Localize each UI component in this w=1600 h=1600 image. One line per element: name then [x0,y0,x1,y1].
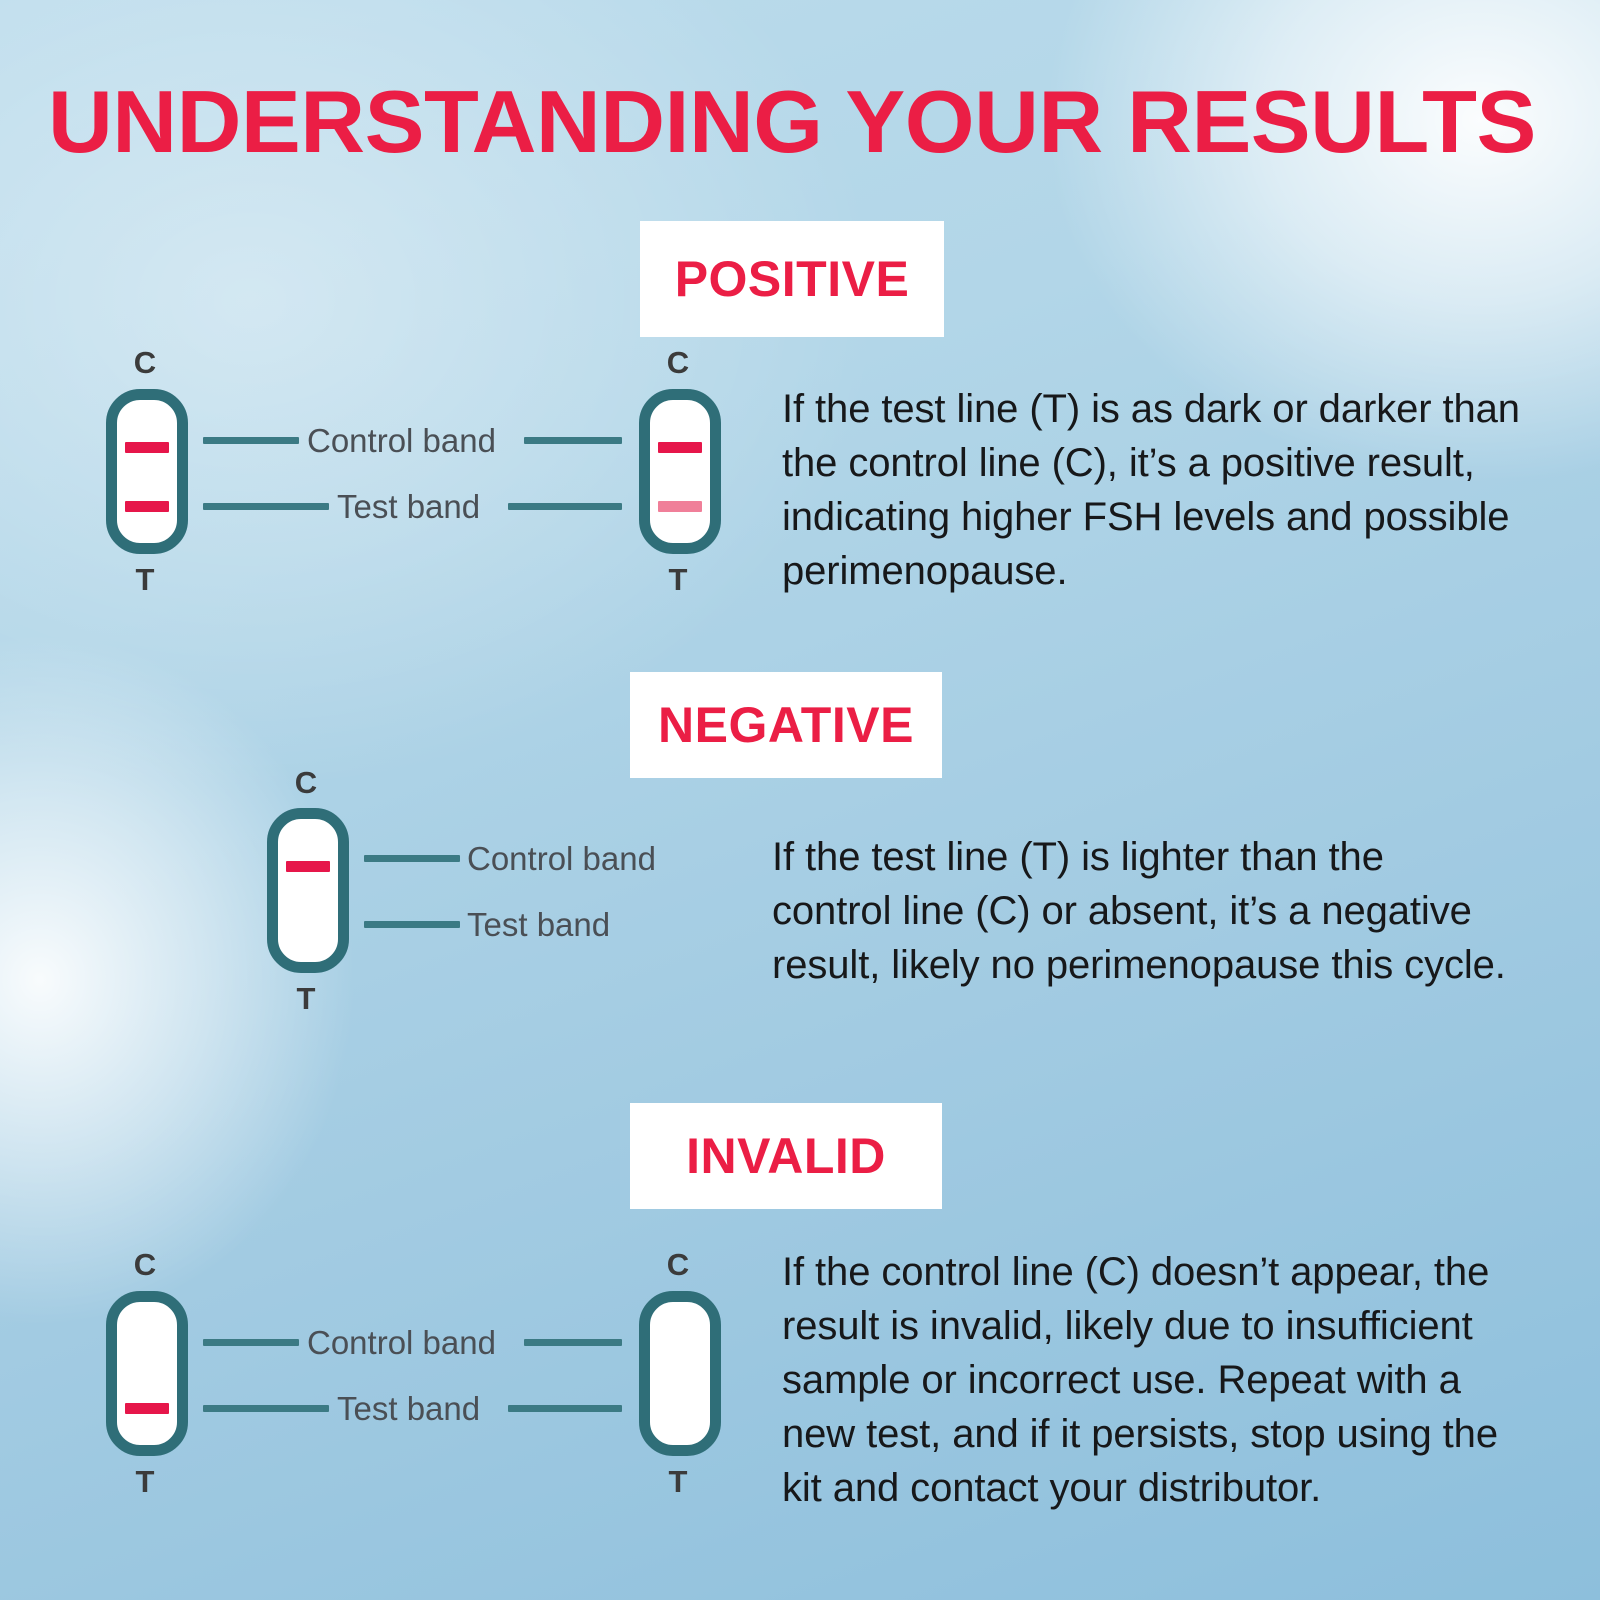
section-heading-negative: NEGATIVE [658,696,914,754]
infographic-canvas: UNDERSTANDING YOUR RESULTS POSITIVE C T … [0,0,1600,1600]
connector-test-left-invalid [203,1405,329,1412]
section-heading-invalid: INVALID [686,1127,886,1185]
section-banner-positive: POSITIVE [640,221,944,337]
description-negative: If the test line (T) is lighter than the… [772,830,1512,992]
connector-control-negative [364,855,460,862]
label-control-band-invalid: Control band [307,1324,496,1362]
marker-t-positive-right: T [648,562,708,598]
marker-t-invalid-left: T [115,1464,175,1500]
connector-test-right-positive [508,503,622,510]
test-band-indicator [658,501,702,512]
marker-c-invalid-right: C [648,1247,708,1283]
marker-t-invalid-right: T [648,1464,708,1500]
section-banner-negative: NEGATIVE [630,672,942,778]
marker-c-negative: C [276,765,336,801]
connector-control-right-positive [524,437,622,444]
section-heading-positive: POSITIVE [675,250,910,308]
label-test-band-positive: Test band [337,488,480,526]
cassette-positive-left [106,389,188,554]
label-test-band-invalid: Test band [337,1390,480,1428]
control-band-indicator [658,442,702,453]
test-band-indicator [125,1403,169,1414]
connector-control-left-positive [203,437,299,444]
description-invalid: If the control line (C) doesn’t appear, … [782,1245,1532,1515]
marker-c-invalid-left: C [115,1247,175,1283]
marker-c-positive-left: C [115,345,175,381]
marker-c-positive-right: C [648,345,708,381]
section-banner-invalid: INVALID [630,1103,942,1209]
cassette-invalid-left [106,1291,188,1456]
test-band-indicator [125,501,169,512]
marker-t-positive-left: T [115,562,175,598]
cassette-invalid-right [639,1291,721,1456]
label-control-band-negative: Control band [467,840,656,878]
label-test-band-negative: Test band [467,906,610,944]
connector-test-right-invalid [508,1405,622,1412]
description-positive: If the test line (T) is as dark or darke… [782,382,1522,598]
label-control-band-positive: Control band [307,422,496,460]
cassette-positive-right [639,389,721,554]
connector-control-left-invalid [203,1339,299,1346]
control-band-indicator [286,861,330,872]
connector-test-left-positive [203,503,329,510]
control-band-indicator [125,442,169,453]
page-title: UNDERSTANDING YOUR RESULTS [48,78,1598,166]
marker-t-negative: T [276,981,336,1017]
connector-test-negative [364,921,460,928]
cassette-negative [267,808,349,973]
connector-control-right-invalid [524,1339,622,1346]
